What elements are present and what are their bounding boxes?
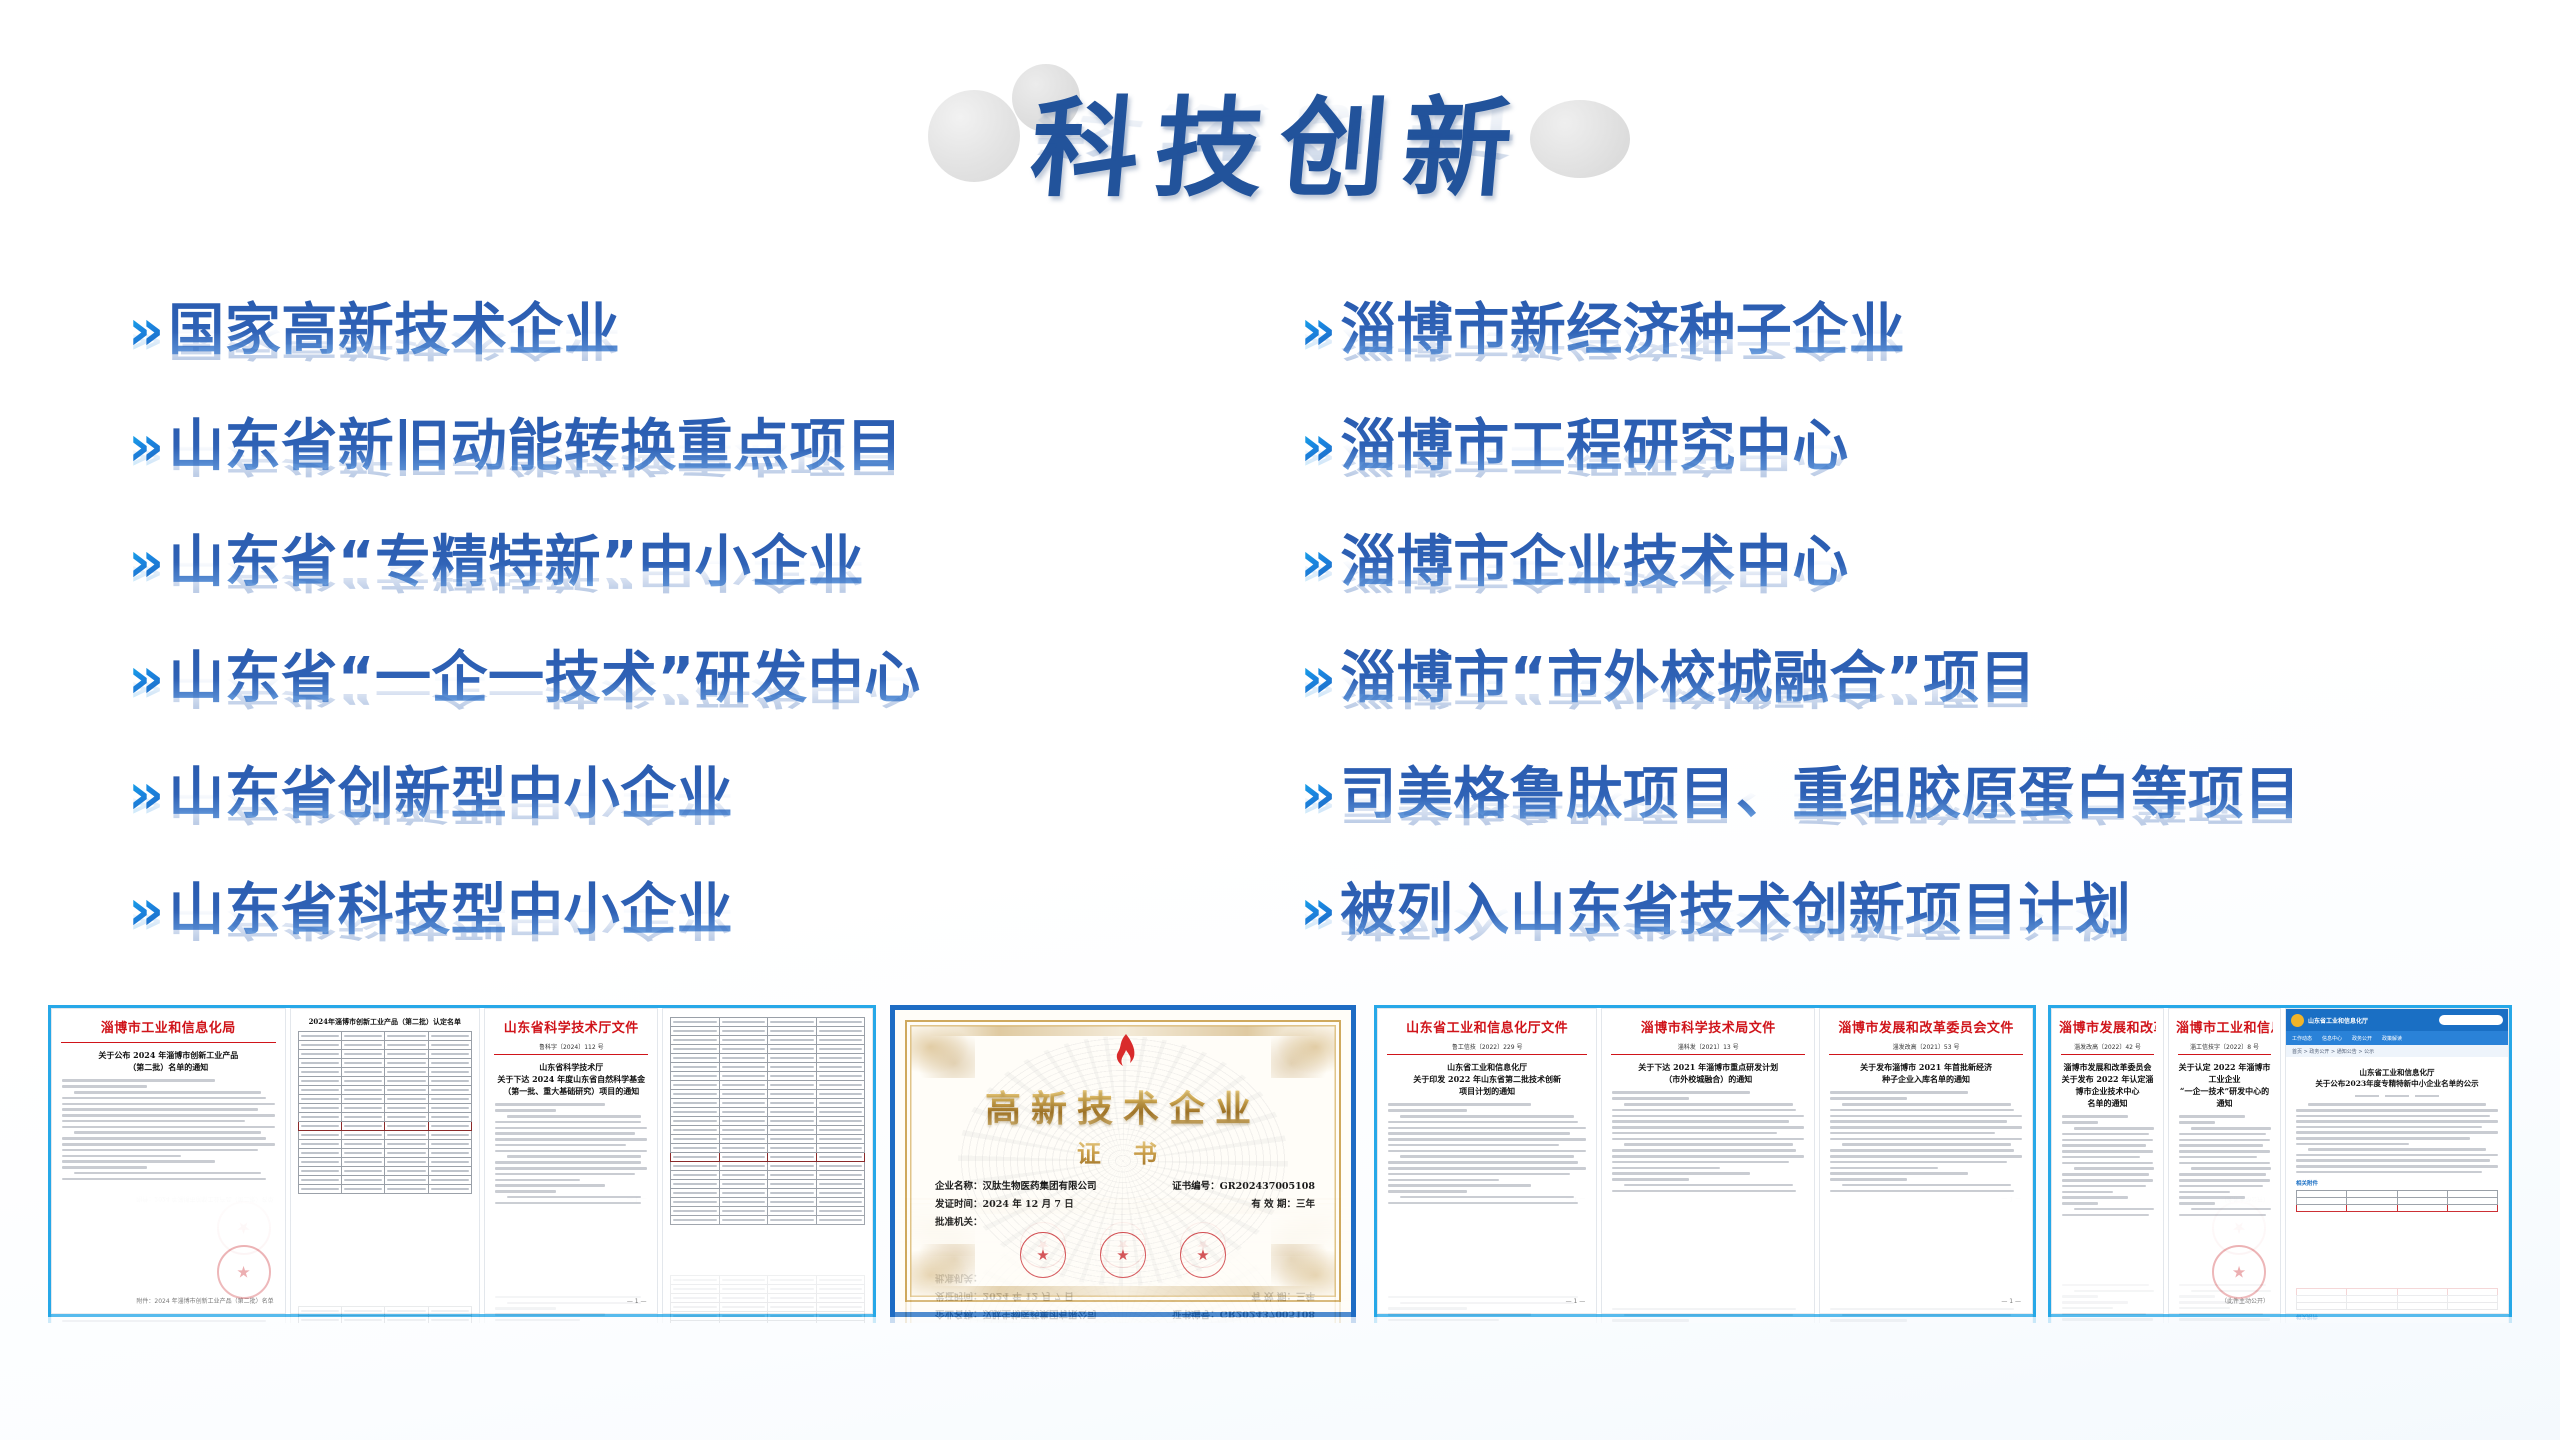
table-cell — [341, 1059, 384, 1068]
bullet-item-right-1: »淄博市新经济种子企业»淄博市新经济种子企业 — [1300, 300, 2520, 416]
table-cell — [341, 1113, 384, 1122]
table-cell — [298, 1059, 341, 1068]
table-cell — [671, 1171, 719, 1180]
table-row — [298, 1176, 471, 1185]
document-text-line — [1388, 1190, 1467, 1193]
document-text-line — [2062, 1156, 2140, 1159]
table-cell — [385, 1050, 428, 1059]
document-text-line — [2179, 1139, 2270, 1142]
table-caption: 2024年淄博市创新工业产品（第二批）认定名单 — [298, 1017, 472, 1027]
panel-enterprise-tech-center-documents: 淄博市发展和改革委员会文件淄发改高〔2022〕42 号淄博市发展和改革委员会关于… — [2048, 1005, 2512, 1317]
document-text-line — [2062, 1133, 2149, 1136]
table-row — [671, 1027, 865, 1036]
chevron-right-icon: » — [128, 648, 164, 710]
table-cell — [298, 1176, 341, 1185]
document-text-line — [2062, 1121, 2098, 1124]
document-table — [298, 1031, 472, 1194]
document-text-line — [1830, 1126, 2022, 1129]
table-cell — [671, 1090, 719, 1099]
document-body — [2059, 1115, 2156, 1305]
document-text-line — [1400, 1155, 1574, 1158]
table-cell — [719, 1180, 767, 1189]
document-text-line — [2296, 1159, 2490, 1162]
table-cell — [671, 1189, 719, 1198]
document-header: 淄博市工业和信息化局文件 — [2176, 1017, 2273, 1036]
bullet-item-label: 司美格鲁肽项目、重组胶原蛋白等项目 — [1340, 764, 2301, 826]
official-seal-icon — [217, 1245, 271, 1299]
panel-document-strip: 山东省工业和信息化厅文件鲁工信技〔2022〕229 号山东省工业和信息化厅关于印… — [1377, 1008, 2033, 1314]
document-text-line — [2296, 1115, 2490, 1118]
table-cell — [298, 1140, 341, 1149]
table-cell — [719, 1135, 767, 1144]
document-text-line — [2062, 1150, 2153, 1153]
table-row — [671, 1135, 865, 1144]
table-cell — [428, 1167, 471, 1176]
table-cell — [671, 1153, 719, 1162]
document-text-line — [1388, 1144, 1559, 1147]
document-text-line — [1830, 1138, 2022, 1141]
nav-item-4[interactable]: 政策解读 — [2382, 1035, 2402, 1042]
table-cell — [768, 1216, 816, 1225]
table-row — [298, 1185, 471, 1194]
document-text-line — [495, 1167, 647, 1170]
attachment-table — [2296, 1190, 2498, 1212]
official-seal-icon — [1020, 1232, 1066, 1278]
certificate-fields: 企业名称：汉肽生物医药集团有限公司证书编号：GR202437005108发证时间… — [935, 1178, 1315, 1232]
document-text-line — [2296, 1120, 2498, 1123]
table-row — [2297, 1205, 2498, 1212]
table-row — [298, 1167, 471, 1176]
document-text-line — [1830, 1161, 2007, 1164]
document-text-line — [2179, 1196, 2245, 1199]
document-text-line — [1830, 1091, 1968, 1094]
document-thumbnail: 淄博市工业和信息化局文件淄工信技字〔2022〕8 号关于认定 2022 年淄博市… — [2168, 1008, 2281, 1314]
bullet-item-left-3: »山东省“专精特新”中小企业»山东省“专精特新”中小企业 — [128, 532, 1208, 648]
document-text-line — [2296, 1171, 2482, 1174]
certificate-ornament-band — [929, 1286, 1317, 1296]
table-cell — [671, 1099, 719, 1108]
chevron-right-icon: » — [1300, 880, 1336, 942]
table-row — [298, 1077, 471, 1086]
document-text-line — [2062, 1214, 2149, 1217]
document-text-line — [495, 1173, 635, 1176]
table-row — [298, 1149, 471, 1158]
document-divider — [2061, 1054, 2154, 1055]
table-row — [298, 1059, 471, 1068]
meta-field — [2415, 1095, 2439, 1097]
table-cell — [719, 1045, 767, 1054]
page-title-reflection: 科技创新 — [0, 92, 2560, 178]
document-text-line — [62, 1160, 215, 1163]
document-thumbnail: 淄博市工业和信息化局关于公布 2024 年淄博市创新工业产品（第二批）名单的通知… — [51, 1008, 286, 1314]
table-cell — [719, 1108, 767, 1117]
table-row — [671, 1036, 865, 1045]
document-divider — [2178, 1054, 2271, 1055]
document-thumbnail: 淄博市发展和改革委员会文件淄发改高〔2022〕42 号淄博市发展和改革委员会关于… — [2051, 1008, 2164, 1314]
meta-field — [2355, 1095, 2379, 1097]
table-cell — [719, 1054, 767, 1063]
document-text-line — [1612, 1172, 1750, 1175]
bullet-item-label: 山东省创新型中小企业 — [168, 764, 733, 826]
document-thumbnail: 山东省工业和信息化厅文件鲁工信技〔2022〕229 号山东省工业和信息化厅关于印… — [1377, 1008, 1597, 1314]
bullet-item-left-4: »山东省“一企一技术”研发中心»山东省“一企一技术”研发中心 — [128, 648, 1208, 764]
official-seal-icon — [2212, 1245, 2266, 1299]
table-cell — [341, 1176, 384, 1185]
table-cell — [719, 1036, 767, 1045]
chevron-right-icon: » — [1300, 764, 1336, 826]
table-row — [671, 1189, 865, 1198]
document-text-line — [507, 1115, 641, 1118]
document-text-line — [1830, 1097, 1907, 1100]
bullet-item-label: 被列入山东省技术创新项目计划 — [1340, 880, 2131, 942]
document-header: 山东省科学技术厅文件 — [492, 1017, 650, 1036]
document-header: 淄博市科学技术局文件 — [1609, 1017, 1807, 1036]
bullet-item-label: 山东省“专精特新”中小企业 — [168, 532, 864, 594]
table-cell — [428, 1131, 471, 1140]
table-cell — [385, 1059, 428, 1068]
table-cell — [341, 1104, 384, 1113]
document-text-line — [495, 1144, 626, 1147]
table-cell — [341, 1050, 384, 1059]
certificate-number-field: 证书编号：GR202437005108 — [1172, 1178, 1315, 1196]
table-cell — [428, 1158, 471, 1167]
document-text-line — [1830, 1172, 1968, 1175]
bullet-item-label: 国家高新技术企业 — [168, 300, 620, 362]
document-text-line — [2179, 1156, 2257, 1159]
corner-ornament-icon — [1271, 1026, 1335, 1078]
document-text-line — [2179, 1115, 2245, 1118]
table-cell — [816, 1135, 864, 1144]
table-cell — [671, 1108, 719, 1117]
document-text-line — [1612, 1190, 1796, 1193]
table-cell — [719, 1072, 767, 1081]
bullet-item-label: 山东省“一企一技术”研发中心 — [168, 648, 921, 710]
table-cell — [2447, 1198, 2497, 1205]
document-footer: — 1 — — [1827, 1298, 2025, 1305]
table-cell — [385, 1077, 428, 1086]
document-number: 鲁工信技〔2022〕229 号 — [1385, 1042, 1589, 1051]
table-cell — [768, 1189, 816, 1198]
bullet-item-label: 淄博市工程研究中心 — [1340, 416, 1849, 478]
document-text-line — [1400, 1115, 1574, 1118]
table-column-header — [341, 1032, 384, 1041]
document-text-line — [1400, 1196, 1574, 1199]
table-header-row — [298, 1032, 471, 1041]
table-cell — [768, 1171, 816, 1180]
document-text-line — [62, 1149, 258, 1152]
table-row — [298, 1086, 471, 1095]
table-cell — [768, 1162, 816, 1171]
table-cell — [428, 1077, 471, 1086]
document-text-line — [2308, 1103, 2486, 1106]
table-cell — [816, 1162, 864, 1171]
document-number: 淄科发〔2021〕13 号 — [1609, 1042, 1807, 1051]
document-text-line — [2179, 1162, 2270, 1165]
document-sheet — [663, 1009, 872, 1313]
document-text-line — [62, 1126, 275, 1129]
document-sheet: 2024年淄博市创新工业产品（第二批）认定名单 — [291, 1009, 479, 1313]
high-tech-enterprise-certificate: 高新技术企业证 书企业名称：汉肽生物医药集团有限公司证书编号：GR2024370… — [895, 1010, 1351, 1312]
document-panels: 淄博市工业和信息化局关于公布 2024 年淄博市创新工业产品（第二批）名单的通知… — [0, 1005, 2560, 1335]
table-cell — [385, 1041, 428, 1050]
table-cell — [2297, 1198, 2347, 1205]
chevron-right-icon: » — [128, 880, 164, 942]
certificate-sub-title: 证 书 — [895, 1134, 1351, 1169]
article-title: 山东省工业和信息化厅关于公布2023年度专精特新中小企业名单的公示 — [2296, 1067, 2498, 1089]
document-text-line — [495, 1161, 641, 1164]
document-text-line — [1388, 1319, 1499, 1322]
table-cell — [2297, 1191, 2347, 1198]
panel-document-strip: 淄博市工业和信息化局关于公布 2024 年淄博市创新工业产品（第二批）名单的通知… — [51, 1008, 873, 1314]
article-body — [2296, 1103, 2498, 1173]
table-cell — [671, 1135, 719, 1144]
table-cell — [298, 1095, 341, 1104]
table-cell — [816, 1054, 864, 1063]
document-text-line — [1830, 1319, 1907, 1322]
document-text-line — [2062, 1191, 2113, 1194]
table-cell — [341, 1158, 384, 1167]
document-text-line — [1842, 1103, 2011, 1106]
breadcrumb-label: 首页 > 政务公开 > 通知公告 > 公示 — [2292, 1048, 2374, 1055]
document-body — [1385, 1103, 1589, 1298]
table-cell — [719, 1189, 767, 1198]
document-divider — [494, 1054, 648, 1055]
table-cell — [428, 1041, 471, 1050]
table-cell — [719, 1126, 767, 1135]
table-cell — [298, 1149, 341, 1158]
table-row — [298, 1140, 471, 1149]
table-cell — [428, 1185, 471, 1194]
government-emblem-icon — [2291, 1014, 2304, 1027]
certificate-main-title: 高新技术企业 — [895, 1080, 1351, 1132]
table-cell — [816, 1099, 864, 1108]
table-cell — [671, 1180, 719, 1189]
document-text-line — [1388, 1109, 1467, 1112]
document-text-line — [2179, 1173, 2266, 1176]
table-row — [671, 1090, 865, 1099]
document-text-line — [2191, 1167, 2271, 1170]
table-cell — [768, 1054, 816, 1063]
document-text-line — [1388, 1127, 1586, 1130]
table-cell — [719, 1216, 767, 1225]
document-text-line — [495, 1319, 580, 1322]
bullet-item-right-4: »淄博市“市外校城融合”项目»淄博市“市外校城融合”项目 — [1300, 648, 2520, 764]
document-text-line — [1624, 1143, 1793, 1146]
table-cell — [816, 1108, 864, 1117]
bullet-item-label: 淄博市新经济种子企业 — [1340, 300, 1905, 362]
table-cell — [341, 1041, 384, 1050]
document-text-line — [1612, 1167, 1719, 1170]
document-sheet: 山东省工业和信息化厅文件鲁工信技〔2022〕229 号山东省工业和信息化厅关于印… — [1378, 1009, 1596, 1313]
bullet-item-label: 山东省科技型中小企业 — [168, 880, 733, 942]
document-text-line — [1388, 1161, 1578, 1164]
table-cell — [671, 1054, 719, 1063]
table-cell — [341, 1131, 384, 1140]
table-cell — [671, 1081, 719, 1090]
document-text-line — [1388, 1167, 1586, 1170]
document-sheet: 淄博市工业和信息化局文件淄工信技字〔2022〕8 号关于认定 2022 年淄博市… — [2169, 1009, 2280, 1313]
document-text-line — [62, 1097, 266, 1100]
title-zone: 科技创新 科技创新 — [0, 18, 2560, 248]
document-number: 淄发改高〔2022〕42 号 — [2059, 1042, 2156, 1051]
panel-document-strip: 高新技术企业证 书企业名称：汉肽生物医药集团有限公司证书编号：GR2024370… — [895, 1010, 1351, 1312]
table-cell — [671, 1198, 719, 1207]
document-text-line — [74, 1172, 261, 1175]
table-row — [298, 1158, 471, 1167]
issue-date-field: 发证时间：2024 年 12 月 7 日 — [935, 1196, 1074, 1214]
document-text-line — [2062, 1139, 2153, 1142]
table-cell — [816, 1180, 864, 1189]
table-cell — [2297, 1205, 2347, 1212]
document-sheet: 山东省科学技术厅文件鲁科字〔2024〕112 号山东省科学技术厅关于下达 202… — [485, 1009, 657, 1313]
document-text-line — [62, 1166, 147, 1169]
table-cell — [816, 1189, 864, 1198]
document-title: 山东省工业和信息化厅关于印发 2022 年山东省第二批技术创新项目计划的通知 — [1385, 1061, 1589, 1097]
chevron-right-icon: » — [128, 416, 164, 478]
document-number: 淄发改高〔2021〕53 号 — [1827, 1042, 2025, 1051]
document-sheet: 淄博市发展和改革委员会文件淄发改高〔2022〕42 号淄博市发展和改革委员会关于… — [2052, 1009, 2163, 1313]
document-text-line — [1612, 1109, 1796, 1112]
table-row — [671, 1045, 865, 1054]
bullet-item-left-1: »国家高新技术企业»国家高新技术企业 — [128, 300, 1208, 416]
table-row — [298, 1122, 471, 1131]
nav-item-2[interactable]: 信息中心 — [2322, 1035, 2342, 1042]
document-divider — [61, 1042, 276, 1043]
table-cell — [768, 1198, 816, 1207]
document-text-line — [2062, 1173, 2149, 1176]
table-cell — [385, 1140, 428, 1149]
table-cell — [719, 1090, 767, 1099]
document-text-line — [2296, 1165, 2498, 1168]
document-text-line — [495, 1132, 635, 1135]
table-cell — [719, 1162, 767, 1171]
document-text-line — [507, 1155, 641, 1158]
document-number: 鲁科字〔2024〕112 号 — [492, 1042, 650, 1051]
document-text-line — [62, 1143, 275, 1146]
table-row — [671, 1162, 865, 1171]
document-text-line — [1830, 1132, 1995, 1135]
document-text-line — [2179, 1121, 2215, 1124]
document-title: 关于发布淄博市 2021 年首批新经济种子企业入库名单的通知 — [1827, 1061, 2025, 1085]
nav-item-1[interactable]: 工作动态 — [2292, 1035, 2312, 1042]
table-cell — [719, 1321, 767, 1324]
document-text-line — [507, 1196, 641, 1199]
meta-field — [2385, 1095, 2409, 1097]
table-cell — [298, 1050, 341, 1059]
document-text-line — [2296, 1143, 2409, 1146]
document-text-line — [1830, 1178, 1907, 1181]
document-text-line — [2074, 1208, 2154, 1211]
table-row — [671, 1321, 865, 1324]
table-cell — [341, 1095, 384, 1104]
table-cell — [719, 1171, 767, 1180]
document-text-line — [62, 1137, 266, 1140]
table-cell — [298, 1077, 341, 1086]
table-cell — [816, 1153, 864, 1162]
table-cell — [671, 1207, 719, 1216]
document-text-line — [2179, 1202, 2215, 1205]
table-cell — [385, 1149, 428, 1158]
table-cell — [768, 1081, 816, 1090]
panel-zibo-industry-notice: 淄博市工业和信息化局关于公布 2024 年淄博市创新工业产品（第二批）名单的通知… — [48, 1005, 876, 1317]
table-row — [298, 1131, 471, 1140]
chevron-right-icon: » — [1300, 532, 1336, 594]
table-cell — [298, 1185, 341, 1194]
document-thumbnail — [662, 1008, 873, 1314]
table-row — [671, 1099, 865, 1108]
table-cell — [385, 1104, 428, 1113]
browser-screenshot: 山东省工业和信息化厅工作动态信息中心政务公开政策解读首页 > 政务公开 > 通知… — [2286, 1009, 2508, 1313]
document-text-line — [2191, 1127, 2271, 1130]
table-cell — [671, 1216, 719, 1225]
bullet-item-right-2: »淄博市工程研究中心»淄博市工程研究中心 — [1300, 416, 2520, 532]
document-thumbnail: 淄博市发展和改革委员会文件淄发改高〔2021〕53 号关于发布淄博市 2021 … — [1819, 1008, 2033, 1314]
table-cell — [816, 1171, 864, 1180]
document-text-line — [495, 1121, 641, 1124]
bullet-item-right-5: »司美格鲁肽项目、重组胶原蛋白等项目»司美格鲁肽项目、重组胶原蛋白等项目 — [1300, 764, 2520, 880]
document-title: 淄博市发展和改革委员会关于发布 2022 年认定淄博市企业技术中心名单的通知 — [2059, 1061, 2156, 1109]
table-row — [2297, 1191, 2498, 1198]
table-row — [671, 1054, 865, 1063]
document-text-line — [495, 1138, 647, 1141]
table-row — [671, 1198, 865, 1207]
table-cell — [816, 1198, 864, 1207]
table-cell — [816, 1216, 864, 1225]
table-column-header — [719, 1018, 767, 1027]
document-number: 淄工信技字〔2022〕8 号 — [2176, 1042, 2273, 1051]
document-text-line — [1388, 1184, 1531, 1187]
table-cell — [768, 1108, 816, 1117]
table-column-header — [298, 1032, 341, 1041]
table-cell — [671, 1126, 719, 1135]
document-header: 淄博市发展和改革委员会文件 — [2059, 1017, 2156, 1036]
document-text-line — [2296, 1109, 2498, 1112]
table-cell — [298, 1122, 341, 1131]
table-cell — [816, 1090, 864, 1099]
table-cell — [2447, 1191, 2497, 1198]
nav-item-3[interactable]: 政务公开 — [2352, 1035, 2372, 1042]
table-header-row — [671, 1018, 865, 1027]
table-column-header — [385, 1032, 428, 1041]
table-cell — [768, 1099, 816, 1108]
document-text-line — [2179, 1144, 2263, 1147]
table-cell — [385, 1167, 428, 1176]
document-thumbnail: 山东省工业和信息化厅工作动态信息中心政务公开政策解读首页 > 政务公开 > 通知… — [2285, 1008, 2509, 1314]
table-column-header — [768, 1018, 816, 1027]
bullet-item-label: 淄博市“市外校城融合”项目 — [1340, 648, 2036, 710]
document-text-line — [1612, 1115, 1804, 1118]
document-text-line — [1388, 1132, 1570, 1135]
document-text-line — [495, 1150, 647, 1153]
table-row — [671, 1063, 865, 1072]
table-cell — [2347, 1191, 2397, 1198]
table-cell — [816, 1045, 864, 1054]
table-cell — [768, 1321, 816, 1324]
search-input[interactable] — [2439, 1015, 2503, 1025]
table-cell — [428, 1140, 471, 1149]
table-cell — [298, 1041, 341, 1050]
document-text-line — [1830, 1190, 2014, 1193]
document-text-line — [62, 1178, 266, 1181]
table-cell — [385, 1113, 428, 1122]
document-text-line — [2074, 1127, 2154, 1130]
slide-root: 科技创新 科技创新 »国家高新技术企业»国家高新技术企业»山东省新旧动能转换重点… — [0, 0, 2560, 1440]
document-text-line — [1624, 1103, 1793, 1106]
document-text-line — [2062, 1318, 2153, 1321]
table-cell — [2347, 1198, 2397, 1205]
document-text-line — [2308, 1148, 2486, 1151]
table-cell — [671, 1045, 719, 1054]
